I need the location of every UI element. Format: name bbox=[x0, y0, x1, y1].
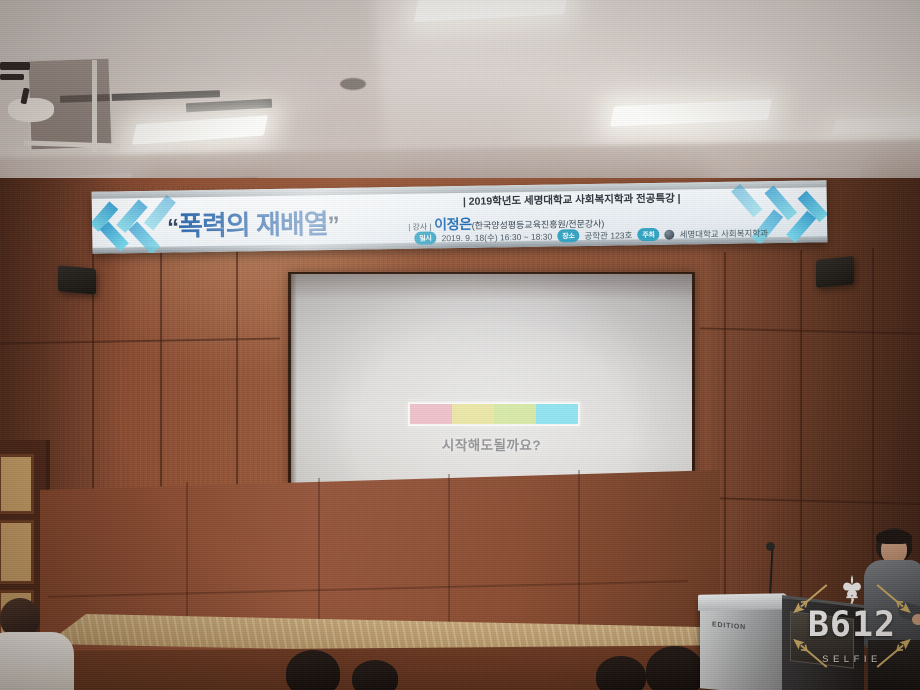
banner-speaker-tag: | 강사 | bbox=[408, 222, 431, 231]
stage-seam-4 bbox=[578, 470, 580, 630]
ceiling bbox=[0, 0, 920, 200]
slide-bar-green bbox=[494, 404, 536, 424]
podium-top-surface bbox=[698, 593, 788, 611]
banner-pill-host: 주최 bbox=[637, 228, 659, 241]
door-glass-panel-1 bbox=[0, 454, 34, 514]
presenter-hand bbox=[912, 614, 920, 625]
audience-silhouette-4 bbox=[646, 646, 704, 690]
university-emblem-icon bbox=[664, 229, 674, 239]
screen-top-shadow bbox=[291, 274, 692, 300]
audience-silhouette-2 bbox=[352, 660, 398, 690]
photo-scene: 시작해도될까요? | 2019학년도 세명대학교 사회복지학과 전공특강 | “… bbox=[0, 0, 920, 690]
ceiling-rail bbox=[0, 62, 30, 70]
banner-quote-open: “ bbox=[167, 214, 178, 241]
ceiling-light-panel-6 bbox=[832, 116, 920, 134]
ceiling-rail-2 bbox=[0, 74, 24, 80]
banner-meta-host: 세명대학교 사회복지학과 bbox=[679, 227, 768, 240]
wall-speaker-right bbox=[816, 256, 854, 288]
ceiling-sensor-1 bbox=[340, 78, 366, 90]
wall-speaker-left bbox=[58, 265, 96, 294]
slide-bar-cyan bbox=[536, 404, 578, 424]
banner-meta-datetime: 2019. 9. 18(수) 16:30 ~ 18:30 bbox=[442, 230, 553, 244]
audience-member-left bbox=[0, 598, 70, 690]
slide-color-bars bbox=[408, 402, 580, 426]
audience-silhouette-1 bbox=[286, 650, 340, 690]
banner-title: “폭력의 재배열” bbox=[167, 202, 339, 244]
audience-left-shirt bbox=[0, 632, 74, 690]
slide-bar-pink bbox=[410, 404, 452, 424]
audience-silhouette-3 bbox=[596, 656, 646, 690]
door-glass-panel-2 bbox=[0, 520, 34, 584]
banner-pill-venue: 장소 bbox=[557, 229, 579, 242]
slide-caption: 시작해도될까요? bbox=[291, 434, 692, 454]
stage-seam-3 bbox=[448, 474, 450, 634]
av-rack-panel bbox=[790, 611, 854, 669]
presenter-fringe bbox=[876, 530, 912, 544]
banner-quote-close: ” bbox=[327, 212, 338, 239]
av-equipment-rack bbox=[782, 595, 864, 690]
presenter-skirt bbox=[868, 640, 920, 690]
stage-seam-2 bbox=[318, 478, 320, 638]
podium-logo: EDITION bbox=[712, 621, 746, 631]
event-banner: | 2019학년도 세명대학교 사회복지학과 전공특강 | “폭력의 재배열” … bbox=[92, 180, 828, 254]
presenter-person bbox=[862, 528, 920, 690]
banner-title-text: 폭력의 재배열 bbox=[178, 209, 328, 241]
projector-housing bbox=[8, 98, 54, 122]
banner-pill-datetime: 일시 bbox=[414, 231, 436, 244]
banner-meta-venue: 공학관 123호 bbox=[584, 229, 632, 242]
podium-unit: EDITION bbox=[700, 598, 786, 690]
ceiling-truss-bar-v bbox=[92, 60, 97, 152]
slide-bar-yellow bbox=[452, 404, 494, 424]
